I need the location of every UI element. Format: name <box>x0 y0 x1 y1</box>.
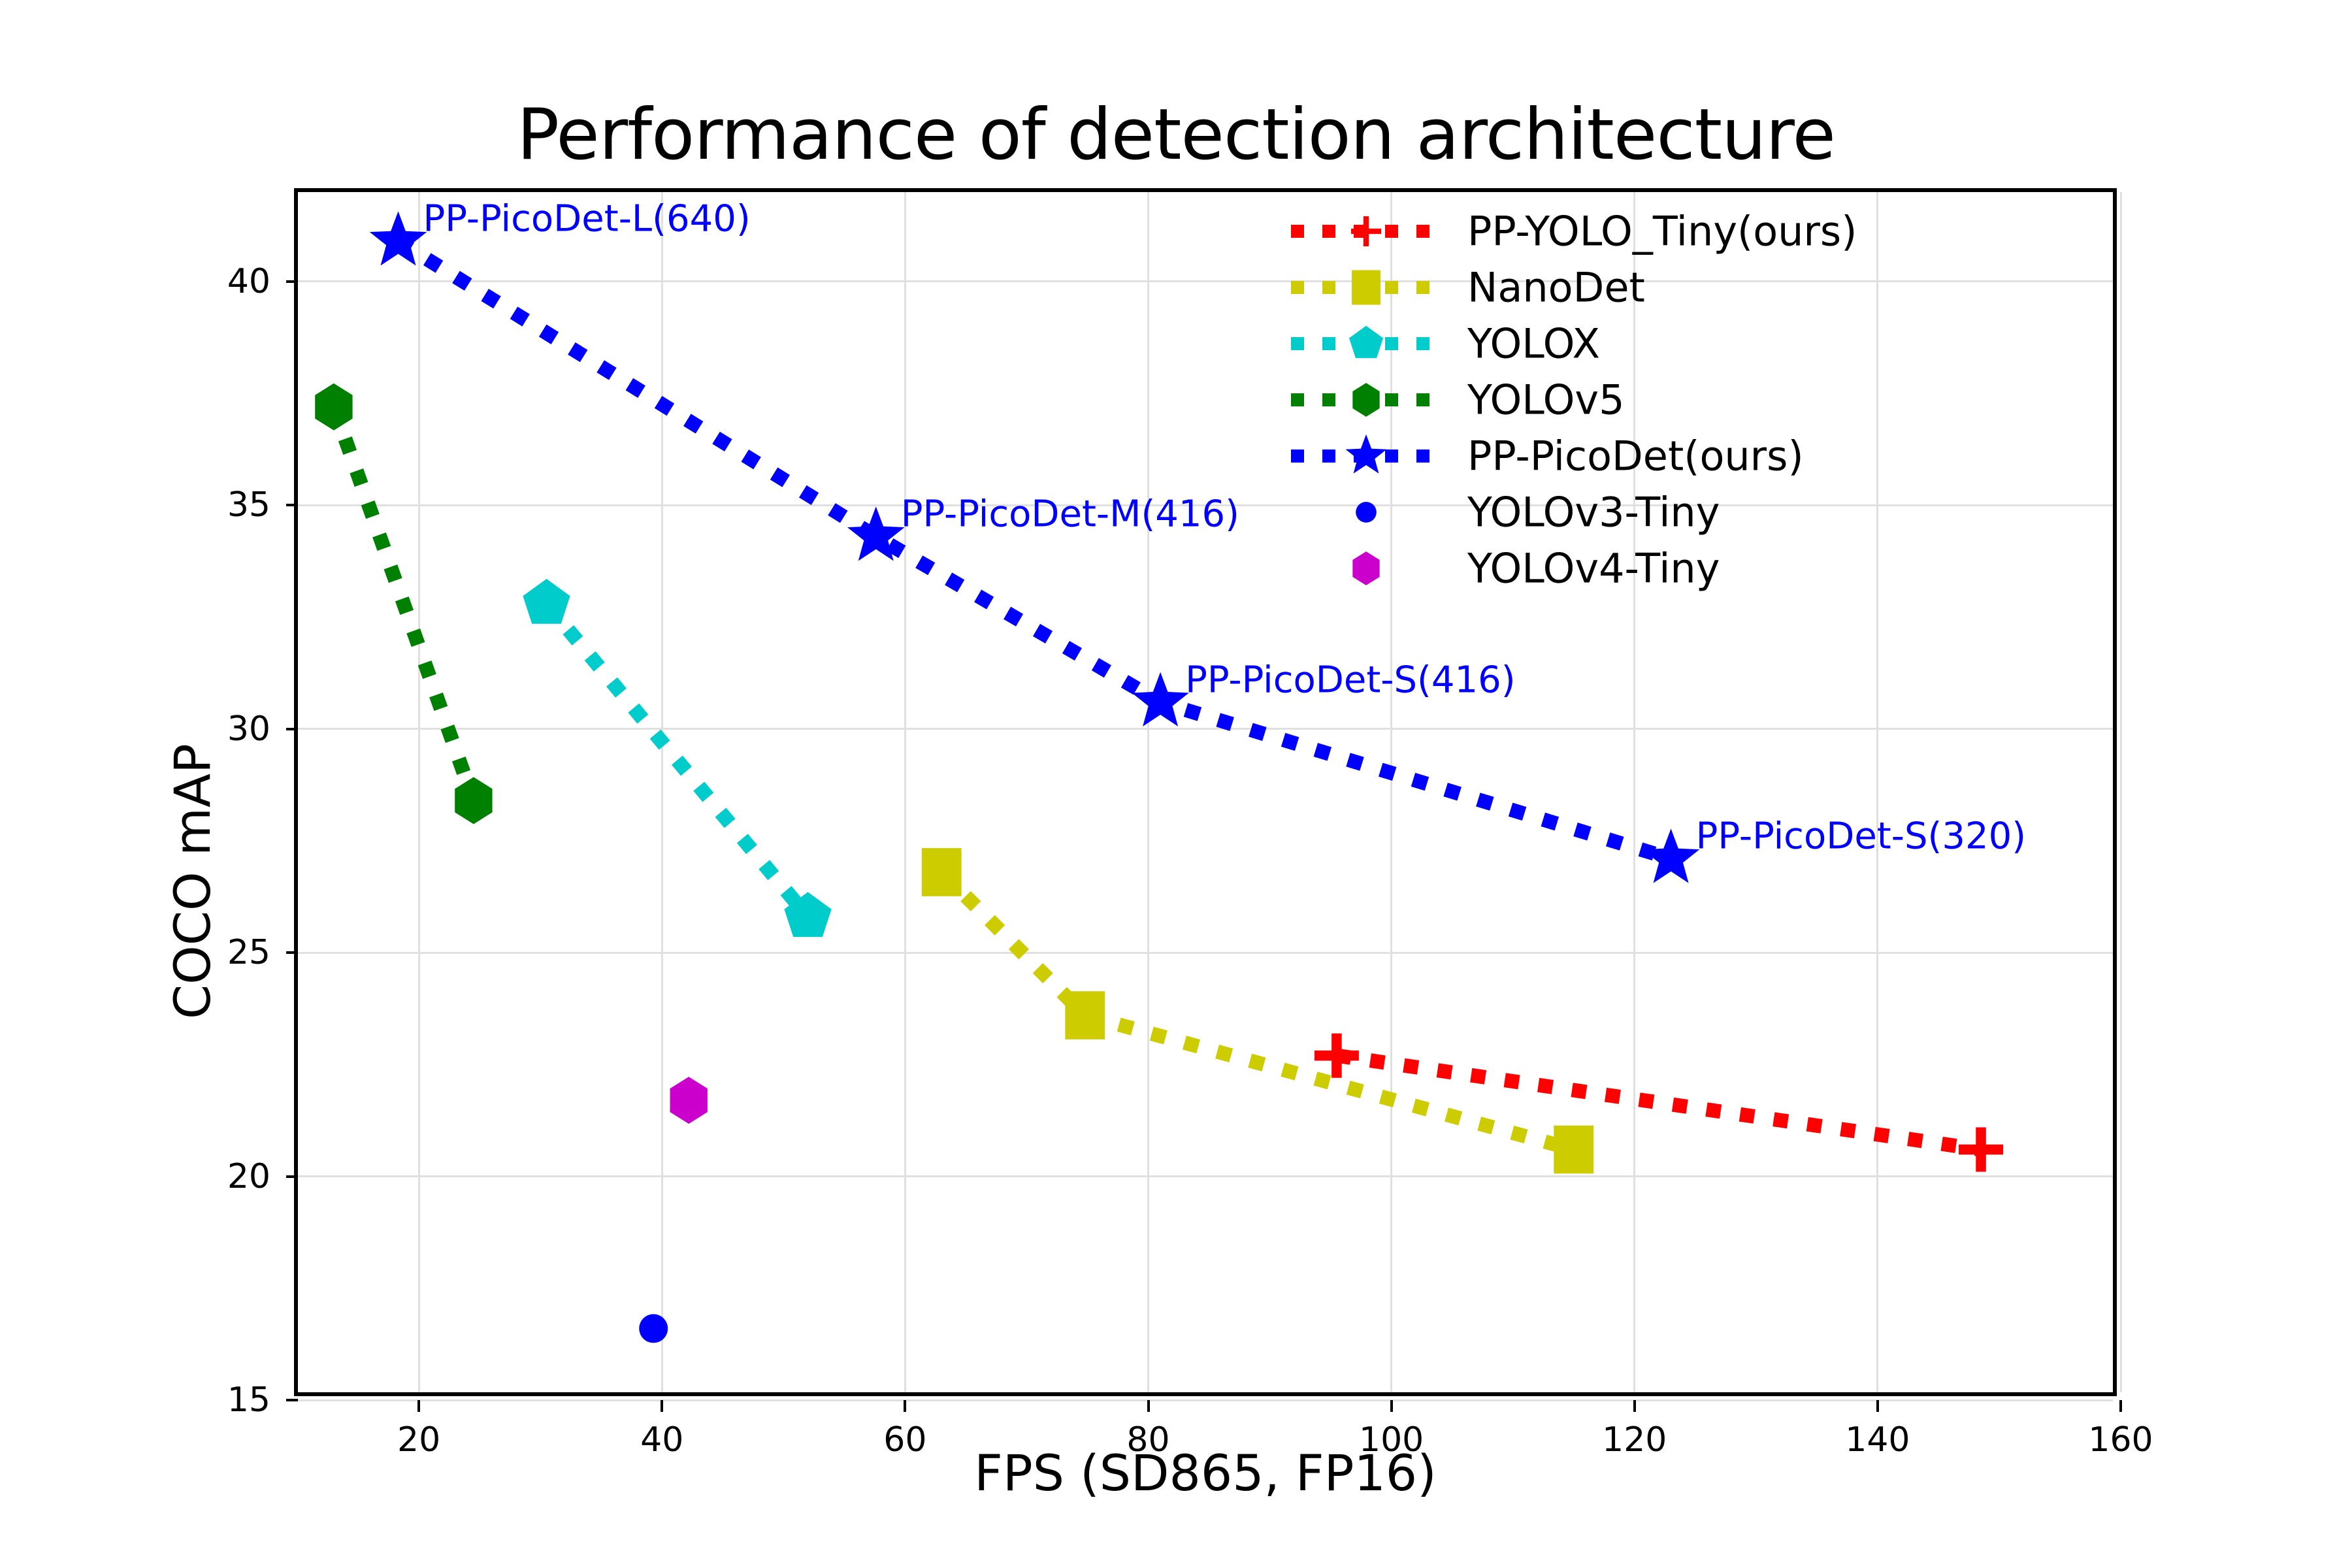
point-annotation-label: PP-PicoDet-M(416) <box>901 493 1239 536</box>
y-tick <box>286 728 298 730</box>
x-tick <box>1876 1400 1879 1412</box>
y-tick <box>286 1175 298 1178</box>
x-tick <box>1147 1400 1150 1412</box>
chart-root: Performance of detection architecture PP… <box>0 0 2352 1568</box>
y-tick <box>286 1399 298 1401</box>
y-tick <box>286 280 298 283</box>
annotation-layer: PP-PicoDet-L(640)PP-PicoDet-M(416)PP-Pic… <box>298 192 2113 1392</box>
y-tick-label: 40 <box>227 262 270 301</box>
y-tick-label: 35 <box>227 485 270 525</box>
y-tick <box>286 504 298 506</box>
plot-area: PP-PicoDet-L(640)PP-PicoDet-M(416)PP-Pic… <box>294 188 2117 1396</box>
x-tick <box>1390 1400 1393 1412</box>
x-axis-label: FPS (SD865, FP16) <box>294 1444 2117 1502</box>
point-annotation-label: PP-PicoDet-S(416) <box>1185 659 1516 701</box>
x-tick <box>1633 1400 1636 1412</box>
x-tick <box>661 1400 663 1412</box>
point-annotation-label: PP-PicoDet-S(320) <box>1696 815 2027 858</box>
y-tick-label: 25 <box>227 933 270 972</box>
x-tick <box>417 1400 420 1412</box>
y-tick-label: 15 <box>227 1380 270 1420</box>
y-tick <box>286 951 298 954</box>
chart-title: Performance of detection architecture <box>0 98 2352 172</box>
x-tick <box>2119 1400 2122 1412</box>
y-tick-label: 30 <box>227 710 270 749</box>
point-annotation-label: PP-PicoDet-L(640) <box>423 198 751 240</box>
x-tick <box>904 1400 906 1412</box>
y-axis-label: COCO mAP <box>163 743 221 1019</box>
y-tick-label: 20 <box>227 1157 270 1196</box>
